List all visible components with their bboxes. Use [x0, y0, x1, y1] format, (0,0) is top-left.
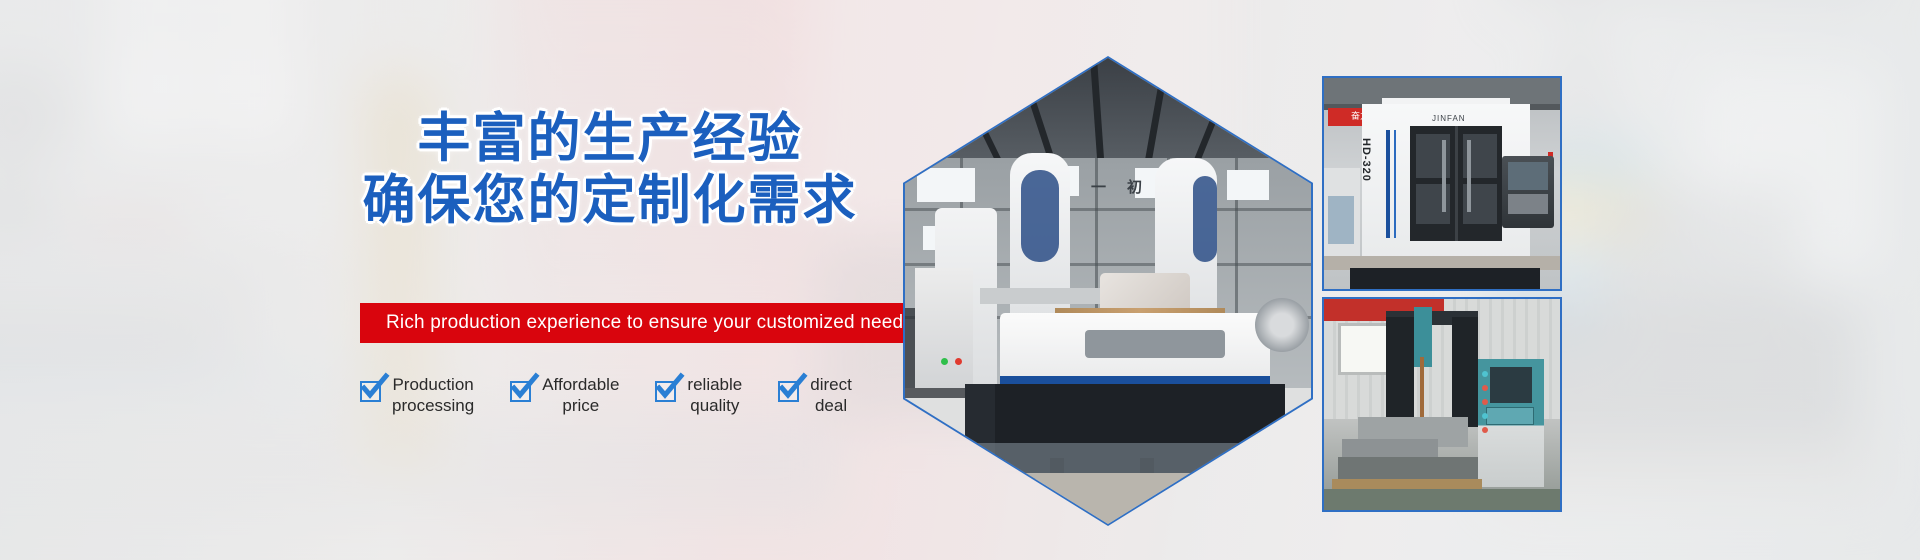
feature-item-production-processing: Production processing — [360, 374, 474, 416]
checkbox-checked-icon — [360, 381, 381, 402]
headline: 丰富的生产经验 确保您的定制化需求 — [330, 108, 890, 232]
checkbox-checked-icon — [778, 381, 799, 402]
headline-line-2: 确保您的定制化需求 — [330, 170, 890, 232]
thumbnail-brand-label: JINFAN — [1432, 114, 1466, 123]
feature-item-reliable-quality: reliable quality — [655, 374, 742, 416]
feature-item-direct-deal: direct deal — [778, 374, 852, 416]
promo-banner: 丰富的生产经验 确保您的定制化需求 Rich production experi… — [0, 0, 1920, 560]
feature-item-affordable-price: Affordable price — [510, 374, 619, 416]
feature-label-line-1: direct — [810, 374, 852, 395]
feature-label-line-2: processing — [392, 395, 474, 416]
checkbox-checked-icon — [510, 381, 531, 402]
feature-label-line-2: quality — [687, 395, 742, 416]
feature-list: Production processing Affordable price r… — [360, 374, 888, 416]
thumbnail-boring-machine — [1322, 297, 1562, 512]
checkbox-checked-icon — [655, 381, 676, 402]
subtitle-text: Rich production experience to ensure you… — [360, 312, 913, 334]
feature-label: direct deal — [810, 374, 852, 416]
subtitle-red-bar: Rich production experience to ensure you… — [360, 303, 905, 343]
feature-label-line-1: Affordable — [542, 374, 619, 395]
feature-label: Affordable price — [542, 374, 619, 416]
feature-label-line-2: price — [542, 395, 619, 416]
thumbnail-model-label: HD-320 — [1360, 138, 1372, 182]
feature-label-line-1: reliable — [687, 374, 742, 395]
feature-label-line-2: deal — [810, 395, 852, 416]
feature-label: reliable quality — [687, 374, 742, 416]
feature-label-line-1: Production — [392, 374, 474, 395]
headline-line-1: 丰富的生产经验 — [418, 110, 803, 168]
thumbnail-machining-center: 奋力 HD-320 JINFAN — [1322, 76, 1562, 291]
feature-label: Production processing — [392, 374, 474, 416]
